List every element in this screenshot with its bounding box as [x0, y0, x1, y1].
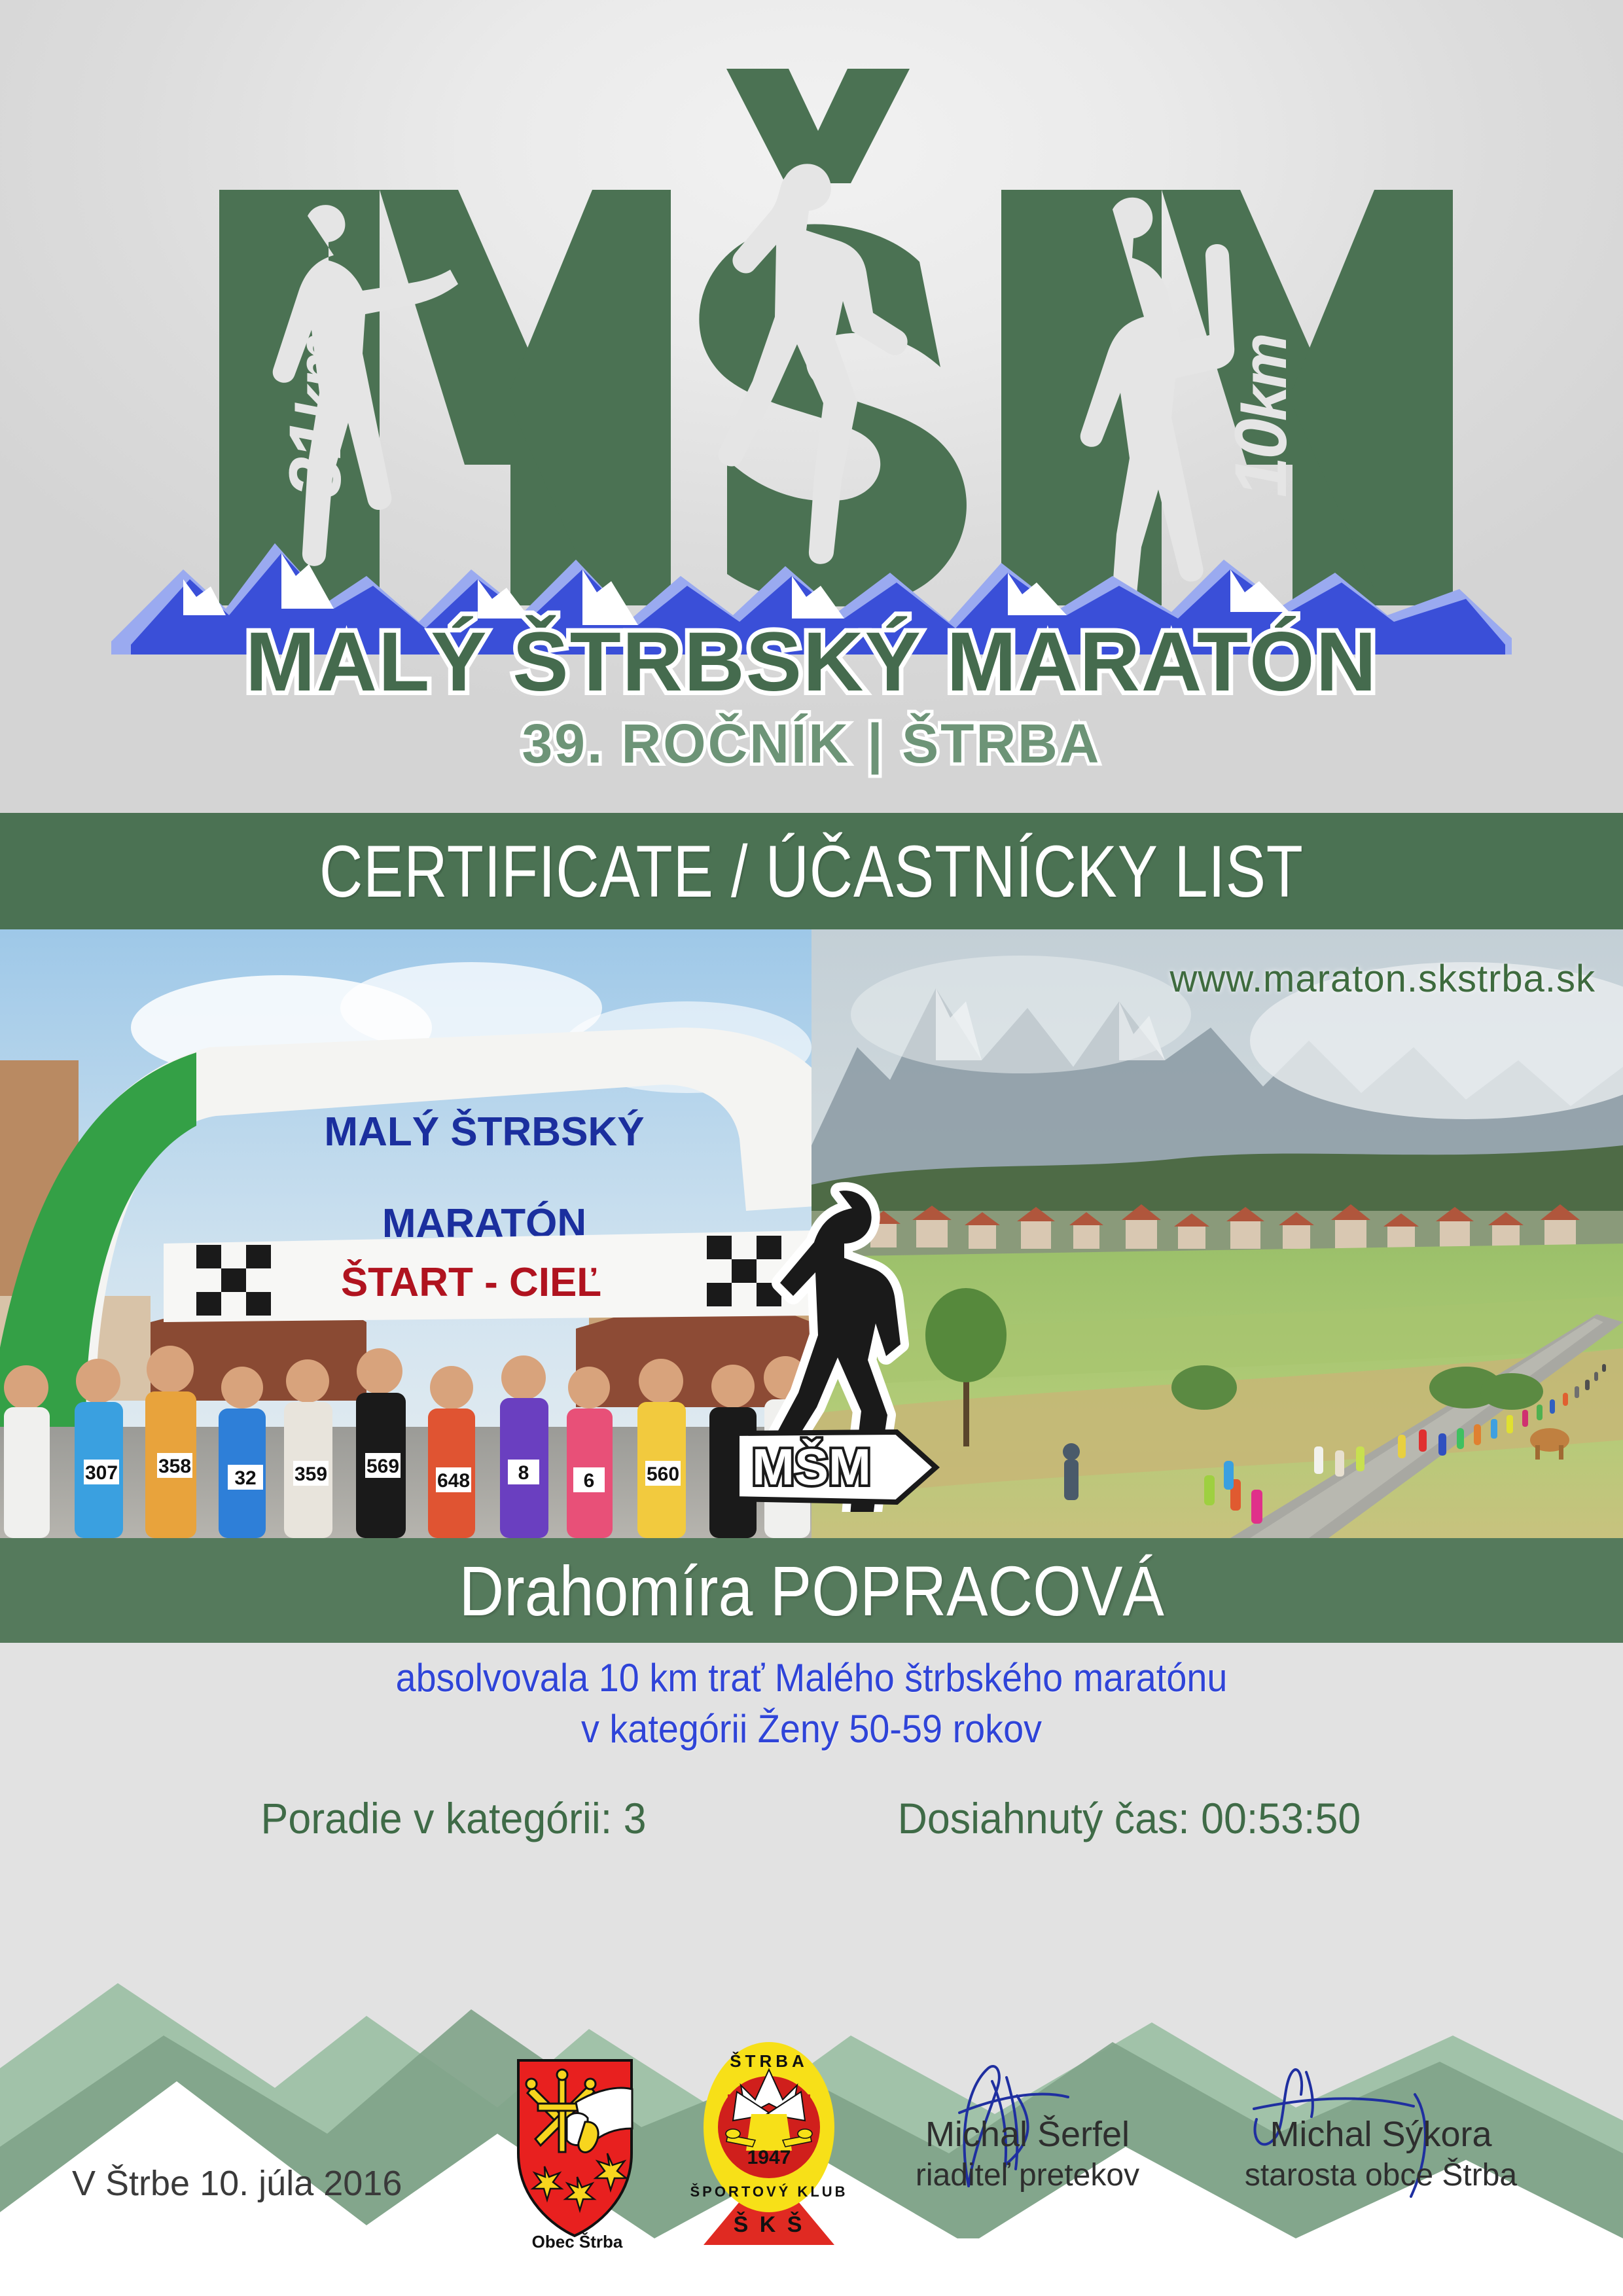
- sks-bottom-text: Š K Š: [734, 2212, 805, 2237]
- logo-area: 31km 10km: [0, 0, 1623, 813]
- certificate-title: CERTIFICATE / ÚČASTNÍCKY LIST: [319, 829, 1304, 914]
- participant-name-band: Drahomíra POPRACOVÁ: [0, 1538, 1623, 1643]
- msm-logo: 31km 10km: [0, 0, 1623, 813]
- finish-time: Dosiahnutý čas: 00:53:50: [897, 1793, 1361, 1843]
- svg-text:569: 569: [366, 1456, 399, 1477]
- obec-strba-crest-icon: Obec Štrba: [504, 2055, 651, 2251]
- signature-name: Michal Sýkora: [1198, 2114, 1564, 2155]
- start-finish-banner: ŠTART - CIEĽ: [164, 1230, 811, 1322]
- arch-line-1: MALÝ ŠTRBSKÝ: [324, 1109, 644, 1155]
- svg-text:8: 8: [518, 1462, 529, 1484]
- msm-ribbon-text: MŠM: [752, 1438, 871, 1496]
- category-rank: Poradie v kategórii: 3: [260, 1793, 646, 1843]
- obec-crest-caption: Obec Štrba: [532, 2232, 623, 2251]
- signature-role: riaditeľ pretekov: [844, 2157, 1211, 2193]
- signature-role: starosta obce Štrba: [1198, 2157, 1564, 2193]
- start-finish-text: ŠTART - CIEĽ: [341, 1260, 601, 1305]
- results-row: Poradie v kategórii: 3 Dosiahnutý čas: 0…: [0, 1793, 1623, 1843]
- certificate-title-band: CERTIFICATE / ÚČASTNÍCKY LIST: [0, 813, 1623, 929]
- photo-start-line: MALÝ ŠTRBSKÝ MARATÓN ŠTART - CIEĽ: [0, 929, 811, 1538]
- event-edition: 39. ROČNÍK | ŠTRBA: [522, 713, 1101, 775]
- svg-text:560: 560: [647, 1463, 679, 1485]
- event-name: MALÝ ŠTRBSKÝ MARATÓN: [245, 615, 1378, 709]
- logo-letter-M-left: 31km: [219, 190, 671, 605]
- spectator: [1063, 1443, 1080, 1500]
- logo-letter-S-middle: [699, 69, 967, 606]
- participant-description: absolvovala 10 km trať Malého štrbského …: [0, 1653, 1623, 1755]
- sks-year: 1947: [747, 2147, 791, 2168]
- sks-top-text: ŠTRBA: [730, 2051, 808, 2071]
- description-line-1: absolvovala 10 km trať Malého štrbského …: [57, 1653, 1566, 1704]
- msm-runner-emblem: MŠM: [740, 1172, 962, 1512]
- site-url[interactable]: www.maraton.skstrba.sk: [1169, 957, 1596, 1001]
- svg-text:648: 648: [437, 1470, 470, 1492]
- svg-text:358: 358: [158, 1456, 191, 1477]
- svg-text:307: 307: [85, 1462, 118, 1484]
- sks-arc-text: ŠPORTOVÝ KLUB: [690, 2183, 847, 2200]
- signature-block-serfel: Michal Šerfel riaditeľ pretekov: [844, 2114, 1211, 2193]
- signature-name: Michal Šerfel: [844, 2114, 1211, 2155]
- svg-text:359: 359: [294, 1463, 327, 1485]
- svg-text:10km: 10km: [1220, 335, 1302, 497]
- msm-ribbon: MŠM: [740, 1432, 936, 1502]
- participant-name: Drahomíra POPRACOVÁ: [459, 1550, 1164, 1632]
- issue-date: V Štrbe 10. júla 2016: [72, 2163, 402, 2204]
- signature-block-sykora: Michal Sýkora starosta obce Štrba: [1198, 2114, 1564, 2193]
- svg-text:6: 6: [584, 1470, 595, 1492]
- svg-text:32: 32: [234, 1467, 256, 1489]
- description-line-2: v kategórii Ženy 50-59 rokov: [57, 1704, 1566, 1755]
- svg-text:31km: 31km: [274, 335, 356, 497]
- sks-club-logo-icon: 1947 ŠTRBA ŠPORTOVÝ KLUB Š K Š: [687, 2036, 851, 2251]
